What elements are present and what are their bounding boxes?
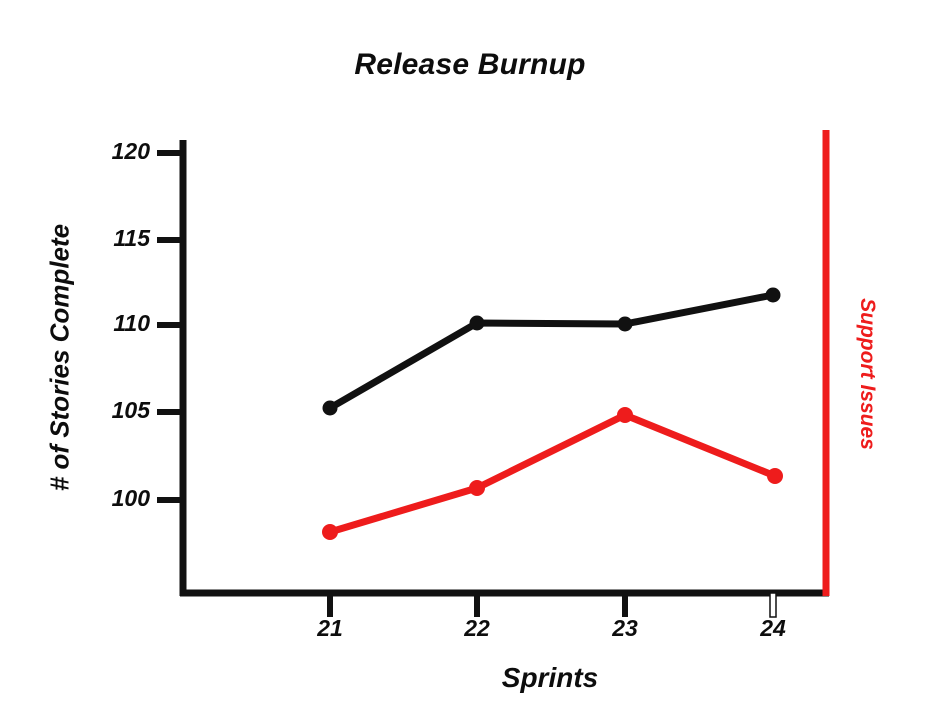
y-tick-label-115: 115 [80,225,150,252]
y-tick-marks [157,153,183,500]
x-tick-label-22: 22 [447,615,507,642]
series-markers-support-issues [322,407,783,540]
y-tick-label-110: 110 [80,310,150,337]
y-tick-label-120: 120 [80,138,150,165]
x-tick-marks [330,593,776,617]
x-tick-label-21: 21 [300,615,360,642]
y-tick-label-100: 100 [80,485,150,512]
chart-canvas: Release Burnup # of Stories Complete Sup… [0,0,940,727]
x-tick-label-23: 23 [595,615,655,642]
x-tick-label-24: 24 [743,615,803,642]
y-tick-label-105: 105 [80,397,150,424]
series-line-support-issues [330,415,775,532]
series-line-stories-complete [330,295,773,408]
